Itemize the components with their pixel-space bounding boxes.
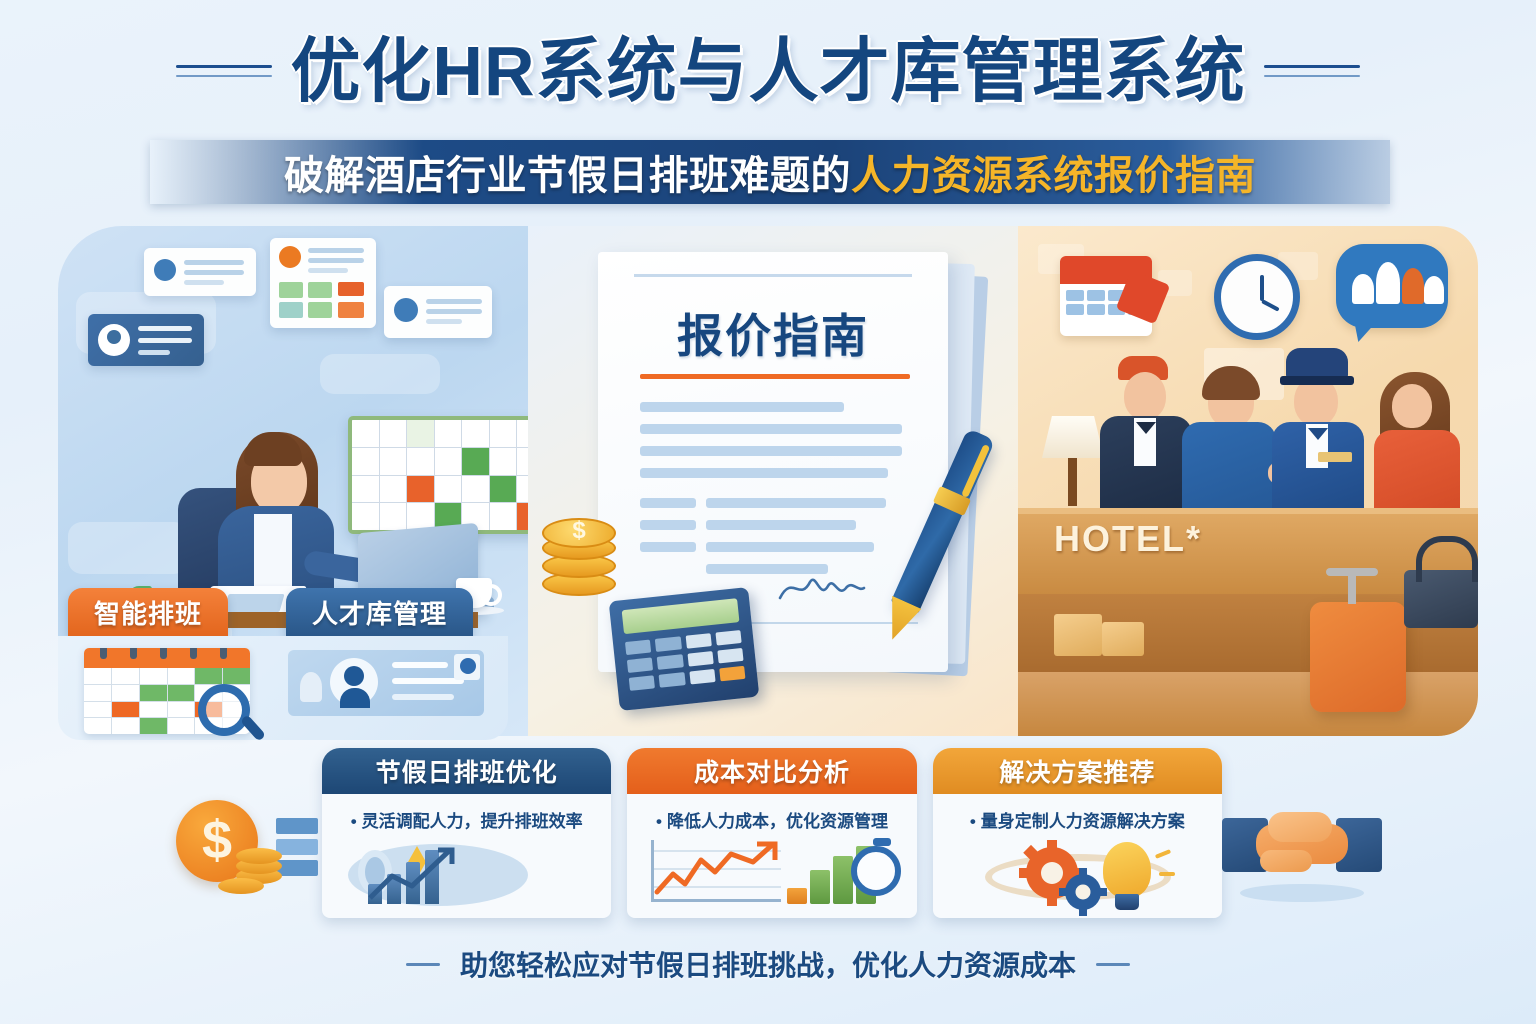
badge-label: 智能排班 [94,594,202,631]
talent-profile-card [288,650,484,716]
schedule-talent-strip [58,636,508,740]
page-title: 优化HR系统与人才库管理系统 [290,34,1245,108]
feature-card-cost-analysis[interactable]: 成本对比分析 降低人力成本，优化资源管理 [627,748,916,918]
dashboard-screen [270,238,376,328]
title-rule-left [176,65,272,77]
card-title: 解决方案推荐 [933,748,1222,794]
gears-lightbulb-icon [933,836,1222,910]
calculator-icon [609,587,760,711]
handbag-icon [1404,570,1478,628]
profile-card-screen-1 [144,248,256,296]
subtitle-white-part: 破解酒店行业节假日排班难题的 [284,154,851,198]
dollar-coins-icon [176,800,272,896]
luggage-box [1102,622,1144,656]
document-title-underline [640,374,910,379]
title-rule-right [1264,65,1360,77]
page-title-row: 优化HR系统与人才库管理系统 [0,34,1536,108]
suitcase-icon [1310,602,1406,712]
clock-icon [1214,254,1300,340]
lobby-floor [1018,672,1478,736]
subtitle-text: 破解酒店行业节假日排班难题的人力资源系统报价指南 [284,143,1256,201]
quotation-document-scene: 报价指南 [528,226,1048,736]
card-bullet: 降低人力成本，优化资源管理 [627,794,916,832]
document-title: 报价指南 [598,300,948,366]
profile-card-screen-3 [384,286,492,338]
lamp-icon [1042,416,1104,458]
line-chart-money-stopwatch-icon [627,836,916,910]
subtitle-yellow-part: 人力资源系统报价指南 [851,154,1256,198]
footer-rule-right [1096,963,1130,966]
feature-card-solution-recommend[interactable]: 解决方案推荐 量身定制人力资源解决方案 [933,748,1222,918]
profile-card-screen-2 [88,314,204,366]
calendar-grid [352,420,544,530]
footer-row: 助您轻松应对节假日排班挑战，优化人力资源成本 [0,944,1536,984]
luggage-box [1054,614,1102,656]
team-speech-bubble-icon [1336,244,1448,328]
feature-card-holiday-scheduling[interactable]: 节假日排班优化 灵活调配人力，提升排班效率 [322,748,611,918]
handshake-icon [1222,796,1382,900]
document-top-rule [634,274,912,277]
footer-rule-left [406,963,440,966]
card-title: 节假日排班优化 [322,748,611,794]
lamp-stem [1068,458,1077,506]
card-bullet: 灵活调配人力，提升排班效率 [322,794,611,832]
search-icon[interactable] [198,684,250,736]
badge-talent-pool[interactable]: 人才库管理 [286,588,473,636]
signature-icon [776,572,866,606]
feature-cards: 节假日排班优化 灵活调配人力，提升排班效率 成本对比分析 降低人力成本，优化资源… [322,748,1222,918]
footer-text: 助您轻松应对节假日排班挑战，优化人力资源成本 [460,944,1076,984]
hotel-lobby-scene: HOTEL* [1018,226,1478,736]
bar-chart-icon [322,836,611,910]
subtitle-banner: 破解酒店行业节假日排班难题的人力资源系统报价指南 [150,140,1390,204]
badge-label: 人才库管理 [312,594,447,631]
hotel-sign-text: HOTEL* [1054,518,1202,560]
badge-smart-scheduling[interactable]: 智能排班 [68,588,228,636]
schedule-calendar-monitor [348,416,548,534]
card-title: 成本对比分析 [627,748,916,794]
card-bullet: 量身定制人力资源解决方案 [933,794,1222,832]
